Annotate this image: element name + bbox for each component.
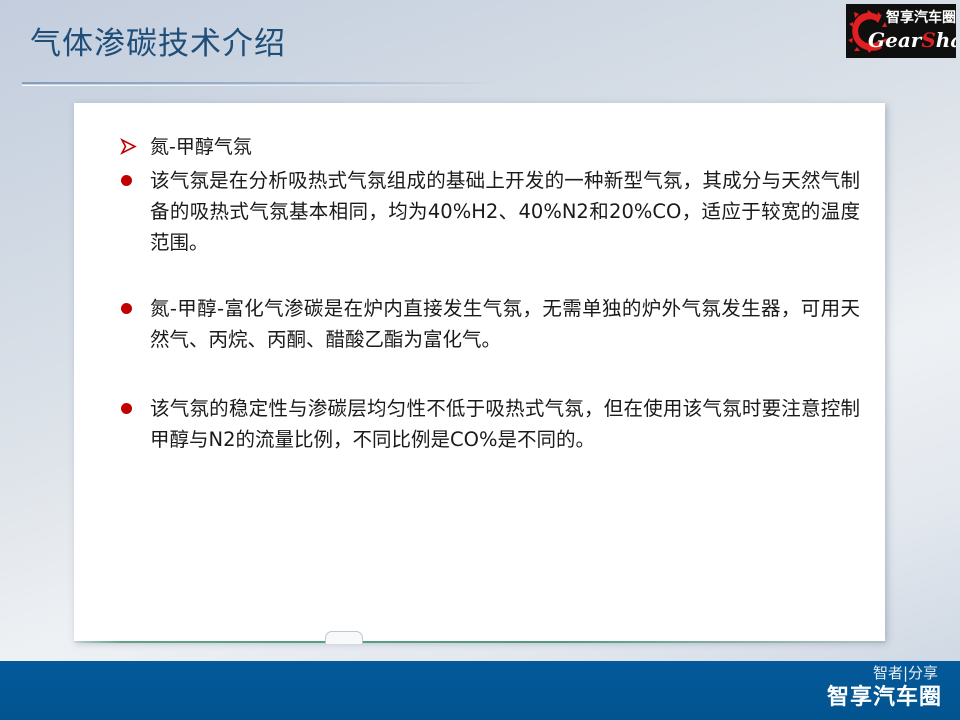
footer-brand: 智享汽车圈 xyxy=(827,684,942,712)
dot-bullet-icon xyxy=(120,393,138,421)
list-item-text: 该气氛是在分析吸热式气氛组成的基础上开发的一种新型气氛，其成分与天然气制备的吸热… xyxy=(150,165,860,258)
list-item: 氮-甲醇-富化气渗碳是在炉内直接发生气氛，无需单独的炉外气氛发生器，可用天然气、… xyxy=(120,293,860,355)
list-item-text: 氮-甲醇气氛 xyxy=(150,133,860,161)
footer-tagline: 智者|分享 xyxy=(873,663,938,683)
title-divider xyxy=(22,82,490,84)
logo-ear: ear xyxy=(885,28,921,52)
card-tab-notch xyxy=(325,631,363,644)
logo-s: S xyxy=(921,28,935,52)
list-item-text: 该气氛的稳定性与渗碳层均匀性不低于吸热式气氛，但在使用该气氛时要注意控制甲醇与N… xyxy=(150,393,860,455)
brand-logo: 智享汽车圈 GearShare xyxy=(846,4,956,58)
logo-hare: hare xyxy=(936,28,956,52)
arrow-bullet-icon xyxy=(120,133,138,161)
content-card: 氮-甲醇气氛 该气氛是在分析吸热式气氛组成的基础上开发的一种新型气氛，其成分与天… xyxy=(74,103,885,641)
logo-chinese-text: 智享汽车圈 xyxy=(886,10,956,27)
logo-g: G xyxy=(868,28,885,52)
dot-bullet-icon xyxy=(120,293,138,321)
logo-english-text: GearShare xyxy=(868,28,956,52)
footer-bar xyxy=(0,661,960,720)
presentation-slide: 气体渗碳技术介绍 智享汽车圈 GearShare xyxy=(0,0,960,720)
list-item-text: 氮-甲醇-富化气渗碳是在炉内直接发生气氛，无需单独的炉外气氛发生器，可用天然气、… xyxy=(150,293,860,355)
title-divider-highlight xyxy=(22,85,490,86)
card-underline xyxy=(74,641,885,643)
slide-header: 气体渗碳技术介绍 xyxy=(0,0,960,92)
page-title: 气体渗碳技术介绍 xyxy=(30,24,286,64)
dot-bullet-icon xyxy=(120,165,138,193)
list-item: 该气氛是在分析吸热式气氛组成的基础上开发的一种新型气氛，其成分与天然气制备的吸热… xyxy=(120,165,860,258)
list-item: 该气氛的稳定性与渗碳层均匀性不低于吸热式气氛，但在使用该气氛时要注意控制甲醇与N… xyxy=(120,393,860,455)
list-item: 氮-甲醇气氛 xyxy=(120,133,860,161)
